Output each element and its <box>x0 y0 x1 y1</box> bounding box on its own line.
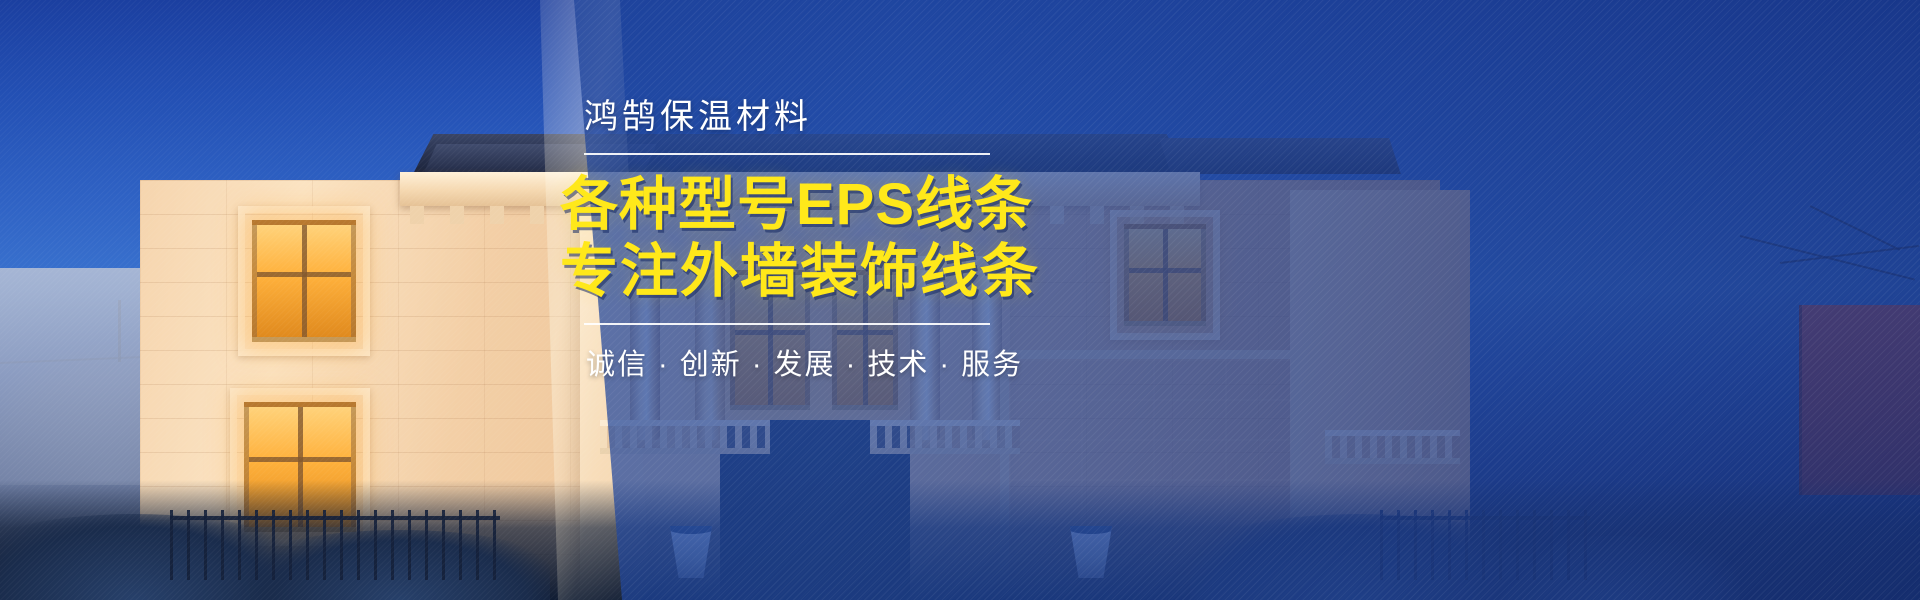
brand-name: 鸿鹄保温材料 <box>560 96 1030 139</box>
balustrade <box>1325 430 1460 464</box>
iron-fence <box>1380 510 1590 580</box>
headline-line-1: 各种型号EPS线条 <box>560 171 1030 238</box>
glowing-window <box>252 220 356 342</box>
tagline: 诚信 · 创新 · 发展 · 技术 · 服务 <box>560 341 1030 383</box>
banner-text-block: 鸿鹄保温材料 各种型号EPS线条 专注外墙装饰线条 诚信 · 创新 · 发展 ·… <box>560 96 1030 383</box>
headline: 各种型号EPS线条 专注外墙装饰线条 <box>560 171 1030 306</box>
headline-line-2: 专注外墙装饰线条 <box>560 238 1030 305</box>
red-container <box>1799 305 1920 495</box>
tree-branch <box>1810 205 1901 251</box>
divider-rule-bottom <box>584 323 990 325</box>
promotional-banner: 鸿鹄保温材料 各种型号EPS线条 专注外墙装饰线条 诚信 · 创新 · 发展 ·… <box>0 0 1920 600</box>
iron-fence <box>170 510 500 580</box>
glowing-window <box>1124 224 1206 326</box>
villa-roof-right-eave <box>1159 138 1401 174</box>
balustrade <box>870 420 1020 454</box>
divider-rule-top <box>584 153 990 155</box>
balustrade <box>600 420 770 454</box>
